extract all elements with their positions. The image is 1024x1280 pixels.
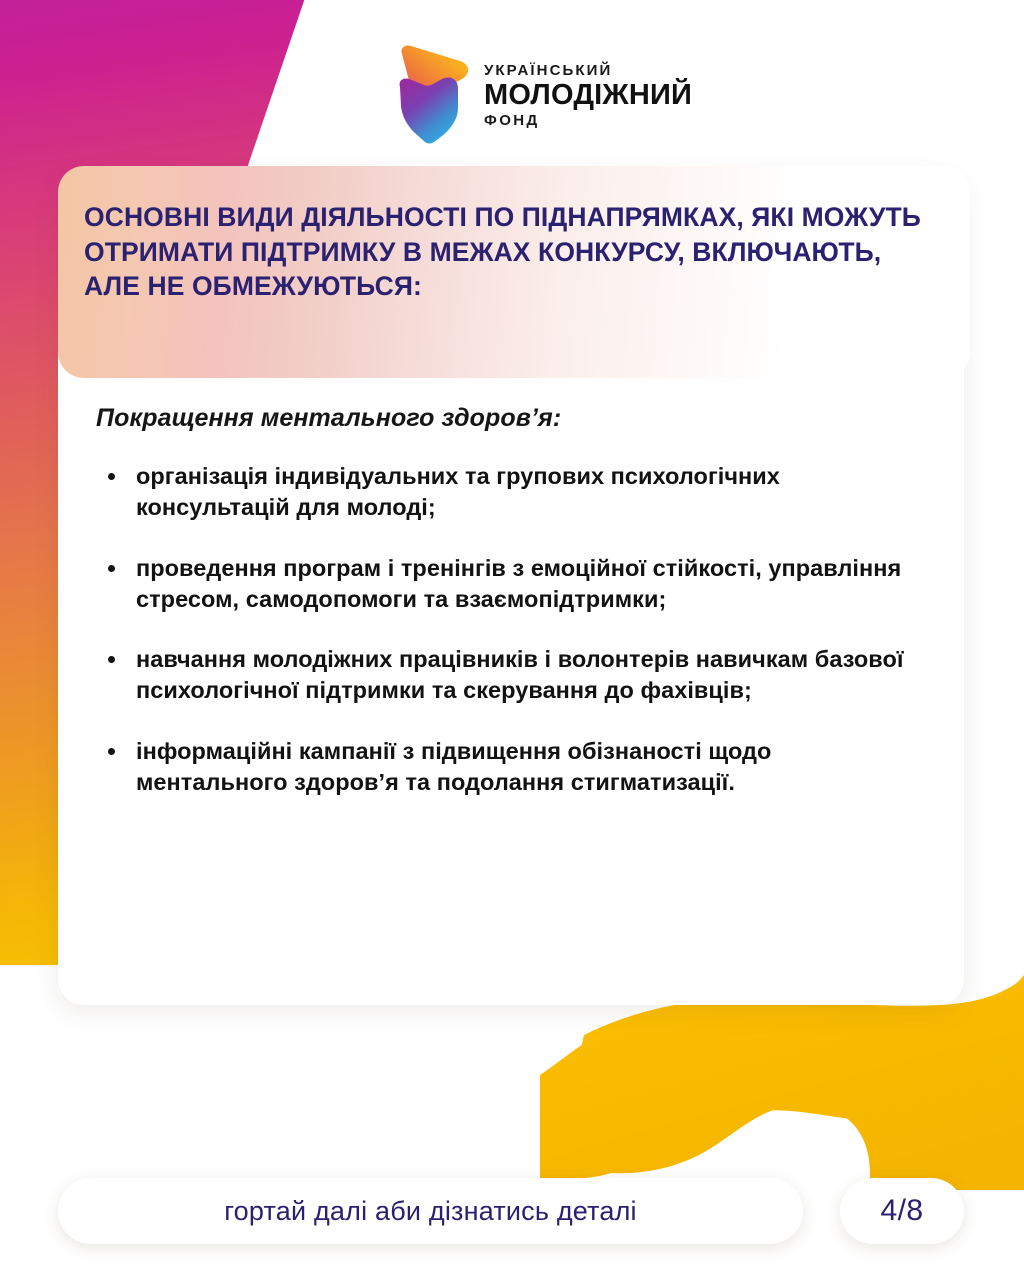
list-item: організація індивідуальних та групових п…	[94, 461, 924, 524]
brand-name-line1: УКРАЇНСЬКИЙ	[484, 63, 692, 79]
list-item: інформаційні кампанії з підвищення обізн…	[94, 736, 924, 799]
list-item-text: організація індивідуальних та групових п…	[136, 463, 780, 520]
bullet-dot-icon	[108, 748, 115, 755]
ukrainian-youth-fund-logo-icon	[396, 44, 474, 144]
list-item-text: проведення програм і тренінгів з емоційн…	[136, 555, 901, 612]
list-item-text: інформаційні кампанії з підвищення обізн…	[136, 738, 771, 795]
list-item-text: навчання молодіжних працівників і волонт…	[136, 646, 904, 703]
list-item: проведення програм і тренінгів з емоційн…	[94, 553, 924, 616]
swipe-cta-button[interactable]: гортай далі аби дізнатись деталі	[58, 1178, 803, 1244]
heading-block: ОСНОВНІ ВИДИ ДІЯЛЬНОСТІ ПО ПІДНАПРЯМКАХ,…	[58, 166, 970, 378]
brand-name-line3: ФОНД	[484, 113, 692, 129]
footer-bar: гортай далі аби дізнатись деталі 4/8	[0, 1178, 1024, 1250]
page-indicator: 4/8	[840, 1178, 964, 1244]
page-title: ОСНОВНІ ВИДИ ДІЯЛЬНОСТІ ПО ПІДНАПРЯМКАХ,…	[84, 200, 928, 304]
body-content: Покращення ментального здоров’я: організ…	[58, 390, 964, 995]
bullet-dot-icon	[108, 473, 115, 480]
list-item: навчання молодіжних працівників і волонт…	[94, 644, 924, 707]
section-subtitle: Покращення ментального здоров’я:	[96, 404, 924, 433]
swipe-cta-label: гортай далі аби дізнатись деталі	[224, 1196, 637, 1227]
activities-list: організація індивідуальних та групових п…	[94, 461, 924, 798]
page-indicator-label: 4/8	[881, 1194, 924, 1228]
brand-wordmark: УКРАЇНСЬКИЙ МОЛОДІЖНИЙ ФОНД	[484, 59, 692, 129]
bullet-dot-icon	[108, 565, 115, 572]
brand-name-line2: МОЛОДІЖНИЙ	[484, 80, 692, 110]
yellow-wave-decoration	[540, 975, 1024, 1190]
bullet-dot-icon	[108, 656, 115, 663]
brand-logo: УКРАЇНСЬКИЙ МОЛОДІЖНИЙ ФОНД	[396, 44, 636, 144]
